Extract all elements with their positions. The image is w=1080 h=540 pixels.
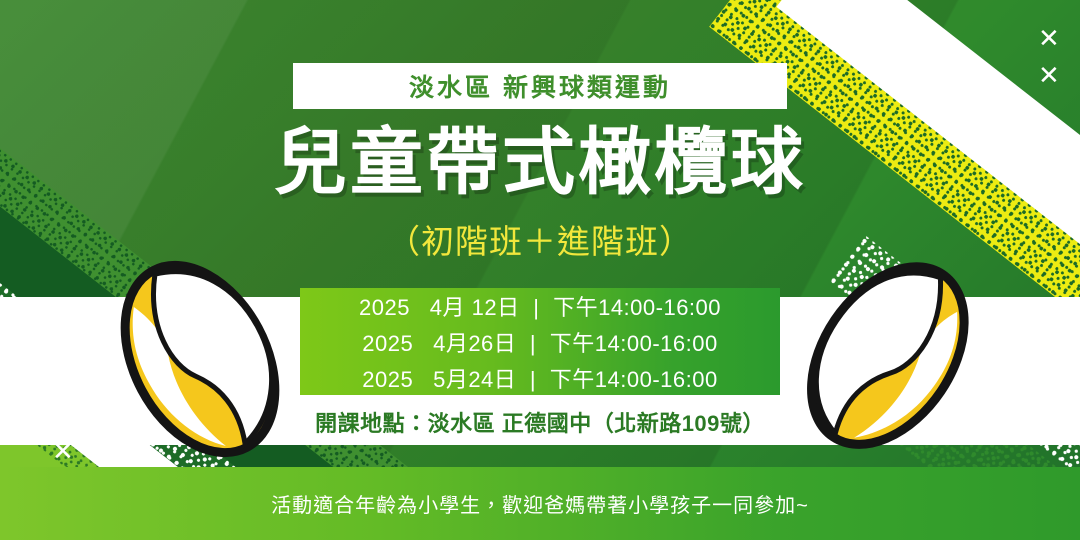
- schedule-year: 2025: [359, 295, 410, 320]
- rugby-ball-left-icon: [108, 252, 293, 472]
- schedule-date: 5月24日: [433, 367, 516, 392]
- x-mark-icon: ✕: [1038, 25, 1060, 51]
- venue-text: 開課地點：淡水區 正德國中（北新路109號）: [0, 406, 1080, 438]
- schedule-date: 4月 12日: [430, 295, 520, 320]
- schedule-time: 下午14:00-16:00: [550, 331, 718, 356]
- footer-note: 活動適合年齡為小學生，歡迎爸媽帶著小學孩子一同參加~: [271, 489, 809, 518]
- schedule-row: 2025 4月26日 | 下午14:00-16:00: [362, 326, 717, 358]
- page-subtitle: （初階班＋進階班）: [0, 215, 1080, 263]
- header-badge: 淡水區 新興球類運動: [293, 63, 787, 109]
- x-mark-icon: ✕: [1038, 62, 1060, 88]
- schedule-row: 2025 5月24日 | 下午14:00-16:00: [362, 362, 717, 394]
- schedule-row: 2025 4月 12日 | 下午14:00-16:00: [359, 290, 721, 322]
- schedule-separator: |: [526, 295, 546, 320]
- schedule-date: 4月26日: [433, 331, 516, 356]
- promo-poster: ✕ ✕ ✕ ✕ 淡水區 新興球類運動 兒童帶式橄欖球 （初階班＋: [0, 0, 1080, 540]
- schedule-time: 下午14:00-16:00: [553, 295, 721, 320]
- page-title: 兒童帶式橄欖球: [0, 126, 1080, 199]
- schedule-year: 2025: [362, 331, 413, 356]
- schedule-separator: |: [523, 367, 543, 392]
- schedule-year: 2025: [362, 367, 413, 392]
- schedule-separator: |: [523, 331, 543, 356]
- schedule-time: 下午14:00-16:00: [550, 367, 718, 392]
- schedule-box: 2025 4月 12日 | 下午14:00-16:00 2025 4月26日 |…: [300, 288, 780, 395]
- x-mark-icon: ✕: [52, 438, 74, 464]
- header-badge-label: 淡水區 新興球類運動: [409, 68, 671, 104]
- footer-bar: 活動適合年齡為小學生，歡迎爸媽帶著小學孩子一同參加~: [0, 467, 1080, 540]
